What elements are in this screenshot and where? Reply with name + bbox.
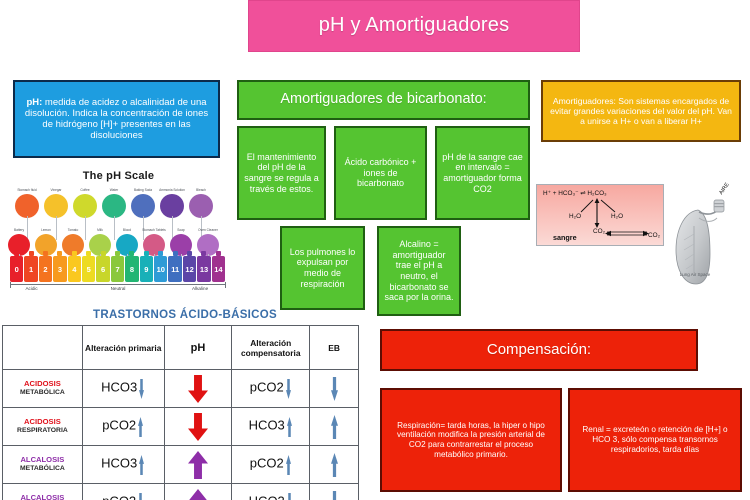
row-disorder-name: ALCALOSIS METABÓLICA — [3, 446, 83, 484]
arrow-up-icon — [330, 452, 339, 478]
row-ph-direction — [164, 370, 232, 408]
ph-item-water: Water — [102, 194, 126, 218]
ph-item-vinegar: Vinegar — [44, 194, 68, 218]
table-row: ALCALOSIS METABÓLICA HCO3 pCO2 — [3, 446, 359, 484]
table-title: TRASTORNOS ÁCIDO-BÁSICOS — [55, 309, 315, 321]
lung-caption: Lung Air Space — [680, 272, 711, 277]
arrow-down-icon — [286, 492, 293, 500]
compensatory-value: HCO3 — [249, 417, 285, 432]
chem-air-label: AIRE — [718, 182, 730, 196]
row-ph-direction — [164, 408, 232, 446]
arrow-down-icon — [137, 492, 144, 500]
row-eb-direction — [310, 408, 359, 446]
row-compensatory-alteration: pCO2 — [232, 446, 310, 484]
compensatory-value: pCO2 — [250, 379, 284, 394]
ph-swatch-7: 7 — [111, 256, 124, 282]
page-title: pH y Amortiguadores — [248, 0, 580, 52]
table-body: ACIDOSIS METABÓLICA HCO3 pCO2 ACIDOSIS R… — [3, 370, 359, 500]
table-header-row: Alteración primaria pH Alteración compen… — [3, 326, 359, 370]
arrow-down-icon — [187, 412, 209, 442]
ph-scale-bar: 01234567891011121314 — [10, 256, 226, 282]
compensatory-value: pCO2 — [250, 455, 284, 470]
compensation-header: Compensación: — [380, 329, 698, 371]
arrow-down-icon — [330, 376, 339, 402]
bicarbonate-buffers-header: Amortiguadores de bicarbonato: — [237, 80, 530, 120]
arrow-up-icon — [137, 416, 144, 438]
amortiguadores-definition-box: Amortiguadores: Son sistemas encargados … — [541, 80, 741, 142]
ph-swatch-6: 6 — [96, 256, 109, 282]
amortiguadores-term: Amortiguadores: — [553, 96, 616, 106]
table-row: ALCALOSIS RESPIRATORIA pCO2 HCO3 — [3, 484, 359, 500]
axis-label-acidic: Acidic — [25, 286, 37, 291]
table-header-ph: pH — [164, 326, 232, 370]
ph-swatch-13: 13 — [197, 256, 210, 282]
table-row: ACIDOSIS METABÓLICA HCO3 pCO2 — [3, 370, 359, 408]
ph-swatch-11: 11 — [168, 256, 181, 282]
row-eb-direction — [310, 370, 359, 408]
arrow-down-icon — [138, 378, 145, 400]
ph-swatch-12: 12 — [183, 256, 196, 282]
disorder-name-line1: ACIDOSIS — [3, 418, 82, 427]
ph-definition-text: medida de acidez o alcalinidad de una di… — [25, 97, 208, 142]
ph-item-coffee: Coffee — [73, 194, 97, 218]
ph-scale-axis: Acidic Neutral Alkaline — [10, 284, 226, 296]
row-disorder-name: ACIDOSIS METABÓLICA — [3, 370, 83, 408]
ph-item-label: Bleach — [182, 188, 220, 192]
ph-item-label: Oven Cleaner — [189, 228, 227, 232]
buffer-note-4: Los pulmones lo expulsan por medio de re… — [280, 226, 365, 310]
arrow-up-icon — [330, 414, 339, 440]
disorder-name-line2: METABÓLICA — [3, 389, 82, 397]
primary-value: HCO3 — [101, 379, 137, 394]
ph-swatch-3: 3 — [53, 256, 66, 282]
chem-co2-air: CO₂ — [648, 232, 660, 239]
ph-definition-term: pH: — [26, 97, 42, 108]
table-row: ACIDOSIS RESPIRATORIA pCO2 HCO3 — [3, 408, 359, 446]
row-primary-alteration: HCO3 — [82, 370, 164, 408]
ph-scale-title: The pH Scale — [5, 168, 232, 182]
arrow-up-icon — [285, 454, 292, 476]
row-eb-direction — [310, 484, 359, 500]
buffer-note-3: pH de la sangre cae en intervalo = amort… — [435, 126, 530, 220]
ph-swatch-10: 10 — [154, 256, 167, 282]
arrow-up-icon — [187, 450, 209, 480]
lung-illustration: Lung Air Space — [668, 196, 728, 290]
arrow-down-icon — [187, 374, 209, 404]
ph-item-stomach-fluid: Stomach fluid — [15, 194, 39, 218]
axis-label-alkaline: Alkaline — [192, 286, 208, 291]
axis-label-neutral: Neutral — [111, 286, 126, 291]
ph-item-ammonia-solution: Ammonia Solution — [160, 194, 184, 218]
row-ph-direction — [164, 484, 232, 500]
row-compensatory-alteration: HCO3 — [232, 484, 310, 500]
row-primary-alteration: HCO3 — [82, 446, 164, 484]
compensation-respiratory-note: Respiración= tarda horas, la hiper o hip… — [380, 388, 562, 492]
ph-swatch-0: 0 — [10, 256, 23, 282]
disorder-name-line1: ALCALOSIS — [3, 456, 82, 465]
row-disorder-name: ACIDOSIS RESPIRATORIA — [3, 408, 83, 446]
compensation-renal-note: Renal = excreteón o retención de [H+] o … — [568, 388, 742, 492]
infographic-page: pH y Amortiguadores pH: medida de acidez… — [0, 0, 750, 500]
row-compensatory-alteration: HCO3 — [232, 408, 310, 446]
arrow-up-icon — [286, 416, 293, 438]
ph-scale-graphic: The pH Scale Stomach fluidVinegarCoffeeW… — [5, 168, 232, 306]
blood-gas-chemistry-diagram: H⁺ + HCO₃⁻ ⇌ H₂CO₃ H₂O H₂O CO₂ sangre — [536, 184, 664, 246]
chem-blood-label: sangre — [553, 233, 577, 242]
table-header-eb: EB — [310, 326, 359, 370]
ph-swatch-8: 8 — [125, 256, 138, 282]
disorder-name-line2: RESPIRATORIA — [3, 427, 82, 435]
ph-definition-box: pH: medida de acidez o alcalinidad de un… — [13, 80, 220, 158]
table-header-blank — [3, 326, 83, 370]
disorder-name-line1: ACIDOSIS — [3, 380, 82, 389]
arrow-down-icon — [285, 378, 292, 400]
arrow-up-icon — [187, 488, 209, 500]
ph-swatch-5: 5 — [82, 256, 95, 282]
primary-value: pCO2 — [102, 417, 136, 432]
row-eb-direction — [310, 446, 359, 484]
row-primary-alteration: pCO2 — [82, 484, 164, 500]
compensatory-value: HCO3 — [249, 493, 285, 500]
row-compensatory-alteration: pCO2 — [232, 370, 310, 408]
ph-swatch-2: 2 — [39, 256, 52, 282]
ph-swatch-1: 1 — [24, 256, 37, 282]
ph-item-baking-soda: Baking Soda — [131, 194, 155, 218]
ph-item-bleach: Bleach — [189, 194, 213, 218]
buffer-note-1: El mantenimiento del pH de la sangre se … — [237, 126, 326, 220]
row-disorder-name: ALCALOSIS RESPIRATORIA — [3, 484, 83, 500]
ph-swatch-14: 14 — [212, 256, 225, 282]
table-header-primary: Alteración primaria — [82, 326, 164, 370]
row-ph-direction — [164, 446, 232, 484]
buffer-note-2: Ácido carbónico + iones de bicarbonato — [334, 126, 427, 220]
buffer-note-5: Alcalino = amortiguador trae el pH a neu… — [377, 226, 461, 316]
primary-value: pCO2 — [102, 493, 136, 500]
table-header-compensatory: Alteración compensatoria — [232, 326, 310, 370]
row-primary-alteration: pCO2 — [82, 408, 164, 446]
arrow-up-icon — [138, 454, 145, 476]
ph-swatch-9: 9 — [140, 256, 153, 282]
ph-scale-top-items: Stomach fluidVinegarCoffeeWaterBaking So… — [5, 182, 232, 226]
disorder-name-line2: METABÓLICA — [3, 465, 82, 473]
disorder-name-line1: ALCALOSIS — [3, 494, 82, 500]
acid-base-disorders-table: Alteración primaria pH Alteración compen… — [2, 325, 359, 500]
arrow-down-icon — [330, 490, 339, 500]
primary-value: HCO3 — [101, 455, 137, 470]
ph-swatch-4: 4 — [68, 256, 81, 282]
